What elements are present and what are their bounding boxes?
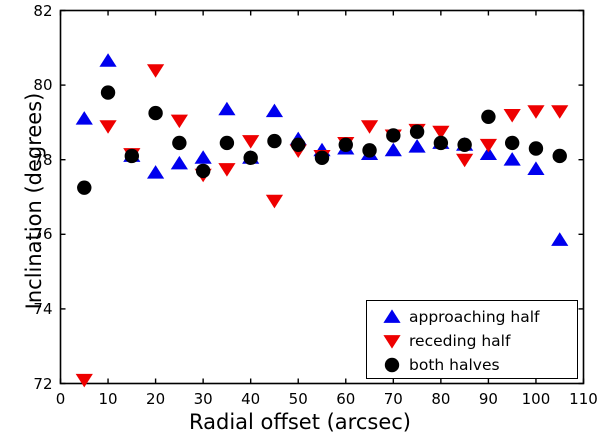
- data-point-circle: [77, 180, 91, 194]
- legend-item-label: both halves: [409, 356, 500, 374]
- legend-item-label: receding half: [409, 332, 510, 350]
- legend-item-label: approaching half: [409, 308, 540, 326]
- y-tick-label: 72: [13, 375, 53, 393]
- legend-item-approaching-half: approaching half: [375, 308, 540, 326]
- data-point-circle: [101, 85, 115, 99]
- triangle-up-icon: [375, 308, 409, 326]
- data-point-circle: [410, 125, 424, 139]
- x-tick-label: 80: [421, 390, 461, 408]
- data-point-circle: [267, 134, 281, 148]
- data-point-triangle-down: [551, 105, 568, 119]
- y-axis-label: Inclination (degrees): [22, 6, 46, 396]
- data-point-triangle-down: [99, 120, 116, 134]
- data-point-triangle-down: [504, 109, 521, 123]
- data-point-triangle-up: [195, 150, 212, 164]
- legend-marker-glyph: [383, 335, 400, 349]
- x-tick-label: 30: [183, 390, 223, 408]
- data-point-circle: [315, 151, 329, 165]
- data-point-triangle-up: [171, 156, 188, 170]
- data-point-triangle-down: [76, 374, 93, 388]
- data-point-triangle-down: [218, 163, 235, 177]
- x-tick-label: 70: [373, 390, 413, 408]
- data-point-triangle-down: [361, 120, 378, 134]
- data-point-triangle-up: [408, 139, 425, 153]
- legend-marker-glyph: [383, 309, 400, 323]
- data-point-circle: [529, 141, 543, 155]
- y-tick-label: 76: [13, 225, 53, 243]
- legend-marker-glyph: [385, 358, 399, 372]
- data-point-triangle-up: [385, 143, 402, 157]
- data-point-circle: [505, 136, 519, 150]
- data-point-circle: [243, 151, 257, 165]
- data-point-triangle-down: [171, 115, 188, 129]
- x-tick-label: 50: [278, 390, 318, 408]
- triangle-down-icon: [375, 332, 409, 350]
- data-point-triangle-down: [527, 105, 544, 119]
- data-point-circle: [172, 136, 186, 150]
- chart-legend: approaching halfreceding halfboth halves: [366, 300, 578, 379]
- data-point-triangle-down: [456, 154, 473, 168]
- x-tick-label: 20: [136, 390, 176, 408]
- data-point-triangle-down: [147, 64, 164, 78]
- data-point-circle: [481, 110, 495, 124]
- x-tick-label: 110: [564, 390, 600, 408]
- y-tick-label: 80: [13, 76, 53, 94]
- data-point-triangle-up: [76, 111, 93, 125]
- y-tick-label: 82: [13, 2, 53, 20]
- data-point-triangle-down: [480, 139, 497, 153]
- x-tick-label: 60: [326, 390, 366, 408]
- x-tick-label: 10: [88, 390, 128, 408]
- data-point-circle: [339, 138, 353, 152]
- data-point-circle: [362, 143, 376, 157]
- data-point-triangle-up: [383, 309, 400, 323]
- data-point-triangle-up: [551, 232, 568, 246]
- x-tick-label: 100: [516, 390, 556, 408]
- legend-item-receding-half: receding half: [375, 332, 510, 350]
- data-point-circle: [125, 149, 139, 163]
- data-point-circle: [553, 149, 567, 163]
- data-point-triangle-up: [527, 161, 544, 175]
- data-point-circle: [291, 138, 305, 152]
- data-point-triangle-down: [266, 195, 283, 209]
- data-point-triangle-up: [218, 102, 235, 116]
- data-point-triangle-down: [242, 135, 259, 149]
- data-point-circle: [385, 358, 399, 372]
- circle-icon: [375, 356, 409, 374]
- data-point-triangle-up: [504, 152, 521, 166]
- data-point-circle: [386, 128, 400, 142]
- x-tick-label: 90: [468, 390, 508, 408]
- x-axis-label: Radial offset (arcsec): [0, 410, 600, 434]
- data-point-circle: [220, 136, 234, 150]
- data-point-circle: [434, 136, 448, 150]
- data-point-triangle-up: [147, 165, 164, 179]
- y-tick-label: 78: [13, 151, 53, 169]
- data-point-circle: [457, 138, 471, 152]
- data-point-circle: [196, 164, 210, 178]
- data-point-triangle-down: [383, 335, 400, 349]
- series-approaching-half: [76, 53, 569, 246]
- data-point-triangle-up: [99, 53, 116, 67]
- data-point-circle: [148, 106, 162, 120]
- data-point-triangle-up: [266, 104, 283, 118]
- legend-item-both-halves: both halves: [375, 356, 500, 374]
- x-tick-label: 40: [231, 390, 271, 408]
- y-tick-label: 74: [13, 300, 53, 318]
